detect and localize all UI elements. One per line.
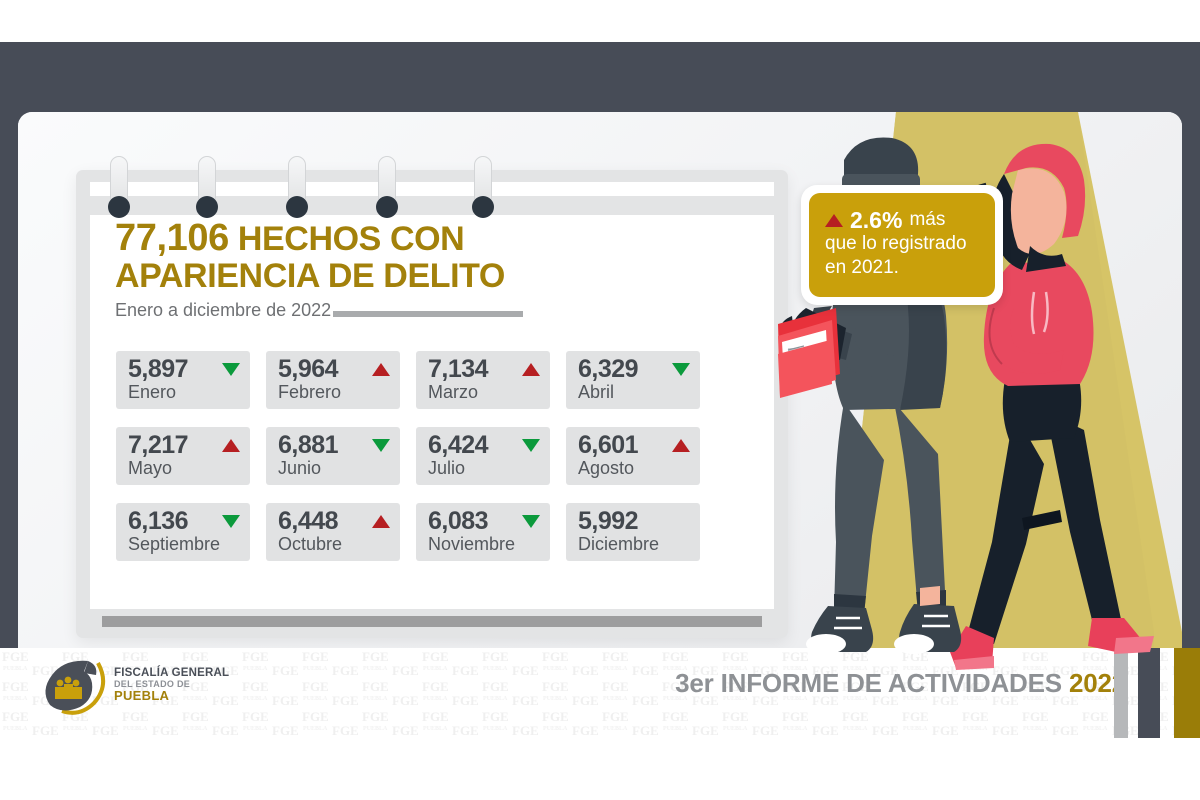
- triangle-down-icon: [522, 439, 540, 452]
- headline-line-1-rest: HECHOS CON: [238, 220, 464, 258]
- month-value-row: 5,897: [128, 355, 240, 383]
- triangle-up-icon: [372, 363, 390, 376]
- month-value: 7,134: [428, 355, 488, 384]
- subtitle: Enero a diciembre de 2022: [115, 300, 331, 321]
- month-value: 6,329: [578, 355, 638, 384]
- month-cell-julio[interactable]: 6,424 Julio: [416, 427, 550, 485]
- triangle-down-icon: [522, 515, 540, 528]
- triangle-up-icon: [522, 363, 540, 376]
- triangle-down-icon: [372, 439, 390, 452]
- stripe-gold: [1174, 648, 1200, 738]
- logo-wordmark: FISCALÍA GENERAL DEL ESTADO DE PUEBLA: [114, 668, 229, 702]
- month-cell-junio[interactable]: 6,881 Junio: [266, 427, 400, 485]
- month-value: 6,424: [428, 431, 488, 460]
- month-value: 6,136: [128, 507, 188, 536]
- callout-percent: 2.6%: [850, 208, 902, 232]
- month-value-row: 6,448: [278, 507, 390, 535]
- content-panel: 77,106 HECHOS CON APARIENCIA DE DELITO E…: [18, 112, 1182, 682]
- spiral-binding-ring: [286, 156, 308, 218]
- subtitle-row: Enero a diciembre de 2022: [115, 300, 523, 321]
- headline-line-1: 77,106 HECHOS CON: [115, 220, 585, 258]
- month-value: 5,992: [578, 507, 638, 536]
- month-value-row: 6,329: [578, 355, 690, 383]
- month-value-row: 6,601: [578, 431, 690, 459]
- callout-line-3: en 2021.: [825, 256, 979, 280]
- spiral-binding-ring: [196, 156, 218, 218]
- month-cell-noviembre[interactable]: 6,083 Noviembre: [416, 503, 550, 561]
- month-value-row: 7,217: [128, 431, 240, 459]
- callout-mas: más: [909, 208, 945, 232]
- stripe-gray: [1114, 648, 1128, 738]
- infographic-root: 77,106 HECHOS CON APARIENCIA DE DELITO E…: [0, 0, 1200, 800]
- callout-badge: 2.6% más que lo registrado en 2021.: [801, 185, 1003, 305]
- month-name: Octubre: [278, 534, 390, 555]
- ring-bead: [108, 196, 130, 218]
- month-name: Mayo: [128, 458, 240, 479]
- month-value: 7,217: [128, 431, 188, 460]
- month-cell-mayo[interactable]: 7,217 Mayo: [116, 427, 250, 485]
- triangle-up-icon: [825, 214, 843, 227]
- ring-bead: [376, 196, 398, 218]
- logo-line-3: PUEBLA: [114, 689, 229, 702]
- triangle-down-icon: [222, 363, 240, 376]
- month-value-row: 6,424: [428, 431, 540, 459]
- footer-logo: FISCALÍA GENERAL DEL ESTADO DE PUEBLA: [36, 653, 229, 717]
- month-value-row: 6,136: [128, 507, 240, 535]
- headline-figure: 77,106: [115, 217, 229, 259]
- footer-title-text: 3er INFORME DE ACTIVIDADES: [675, 668, 1062, 698]
- footer-title: 3er INFORME DE ACTIVIDADES 2022: [675, 668, 1126, 699]
- month-value-row: 7,134: [428, 355, 540, 383]
- month-cell-febrero[interactable]: 5,964 Febrero: [266, 351, 400, 409]
- months-grid: 5,897 Enero 5,964 Febrero 7,134: [116, 351, 696, 561]
- callout-inner: 2.6% más que lo registrado en 2021.: [809, 193, 995, 297]
- month-name: Junio: [278, 458, 390, 479]
- triangle-up-icon: [372, 515, 390, 528]
- month-cell-diciembre[interactable]: 5,992 Diciembre: [566, 503, 700, 561]
- month-name: Febrero: [278, 382, 390, 403]
- month-name: Diciembre: [578, 534, 690, 555]
- month-cell-septiembre[interactable]: 6,136 Septiembre: [116, 503, 250, 561]
- month-cell-marzo[interactable]: 7,134 Marzo: [416, 351, 550, 409]
- month-name: Septiembre: [128, 534, 240, 555]
- month-name: Abril: [578, 382, 690, 403]
- month-name: Noviembre: [428, 534, 540, 555]
- month-value: 5,897: [128, 355, 188, 384]
- notepad-shadow-bar: [102, 616, 762, 627]
- month-value: 5,964: [278, 355, 338, 384]
- ring-bead: [472, 196, 494, 218]
- spiral-binding-ring: [472, 156, 494, 218]
- month-cell-abril[interactable]: 6,329 Abril: [566, 351, 700, 409]
- headline-line-2: APARIENCIA DE DELITO: [115, 258, 585, 295]
- triangle-down-icon: [222, 515, 240, 528]
- month-cell-octubre[interactable]: 6,448 Octubre: [266, 503, 400, 561]
- callout-line-2: que lo registrado: [825, 232, 979, 256]
- month-value: 6,601: [578, 431, 638, 460]
- month-value-row: 6,083: [428, 507, 540, 535]
- headline: 77,106 HECHOS CON APARIENCIA DE DELITO: [115, 220, 585, 295]
- spiral-binding-ring: [376, 156, 398, 218]
- month-name: Agosto: [578, 458, 690, 479]
- month-value-row: 5,964: [278, 355, 390, 383]
- triangle-up-icon: [222, 439, 240, 452]
- footer-stripes: [1100, 648, 1200, 738]
- triangle-up-icon: [672, 439, 690, 452]
- logo-line-1: FISCALÍA GENERAL: [114, 668, 229, 680]
- spiral-binding-ring: [108, 156, 130, 218]
- outer-frame: 77,106 HECHOS CON APARIENCIA DE DELITO E…: [0, 42, 1200, 648]
- month-value: 6,448: [278, 507, 338, 536]
- month-value: 6,083: [428, 507, 488, 536]
- eagle-with-figures-icon: [36, 653, 108, 717]
- callout-line-1: 2.6% más: [825, 208, 979, 232]
- month-name: Enero: [128, 382, 240, 403]
- ring-bead: [196, 196, 218, 218]
- month-cell-agosto[interactable]: 6,601 Agosto: [566, 427, 700, 485]
- stripe-slate: [1138, 648, 1160, 738]
- month-value-row: 5,992: [578, 507, 690, 535]
- month-value: 6,881: [278, 431, 338, 460]
- subtitle-rule: [333, 311, 523, 317]
- month-name: Marzo: [428, 382, 540, 403]
- month-value-row: 6,881: [278, 431, 390, 459]
- notepad-top-band: [76, 196, 788, 215]
- ring-bead: [286, 196, 308, 218]
- month-name: Julio: [428, 458, 540, 479]
- footer: FGE PUEBLA FGE FISCALÍA GENERAL: [0, 648, 1200, 738]
- month-cell-enero[interactable]: 5,897 Enero: [116, 351, 250, 409]
- triangle-down-icon: [672, 363, 690, 376]
